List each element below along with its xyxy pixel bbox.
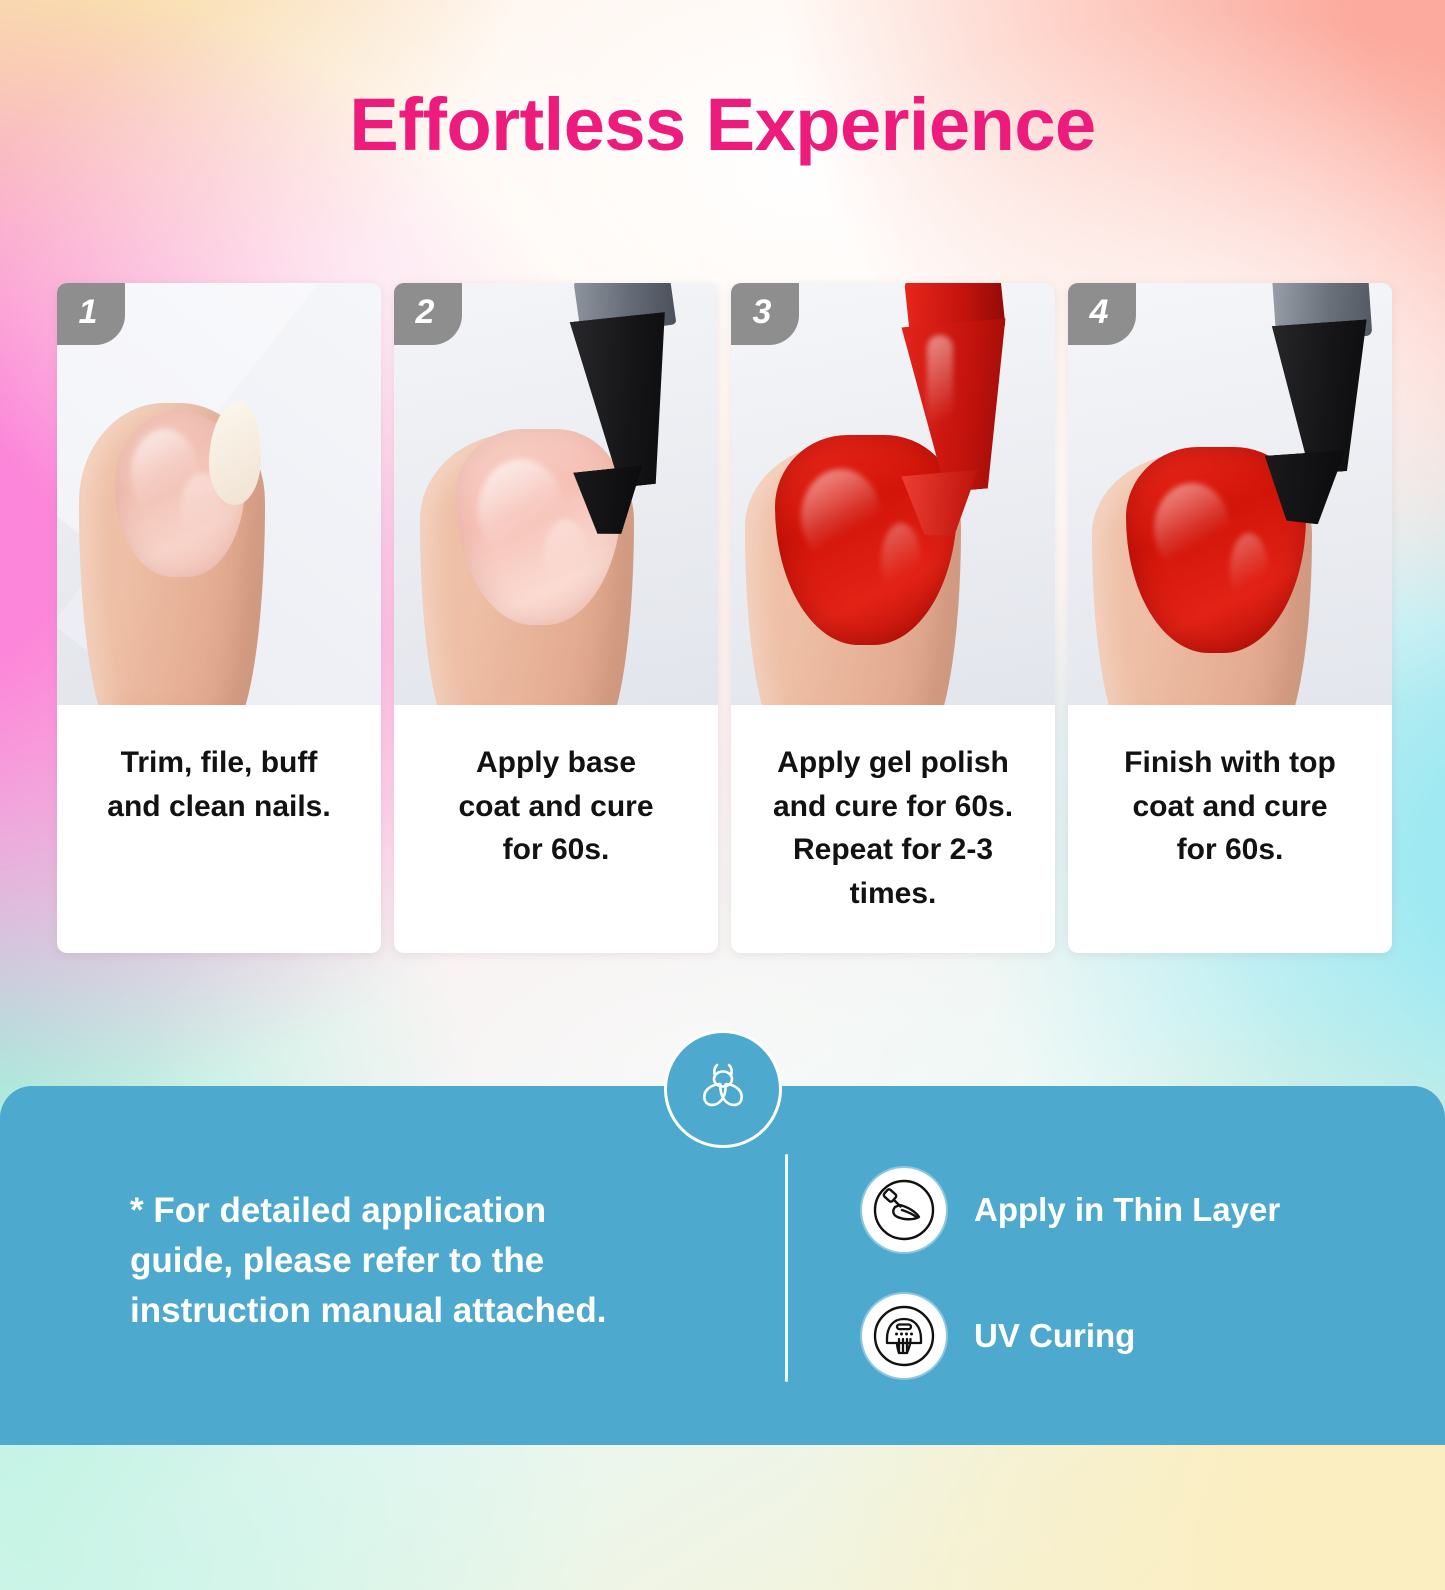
- step-caption-1: Trim, file, buff and clean nails.: [57, 705, 381, 953]
- step-card-1[interactable]: 1 Trim, file, buff and clean nails.: [57, 283, 381, 953]
- step-caption-2: Apply base coat and cure for 60s.: [394, 705, 718, 953]
- page-title: Effortless Experience: [0, 82, 1445, 167]
- nail-photo-bare: [57, 283, 381, 705]
- step-photo-1: 1: [57, 283, 381, 705]
- brand-logo-badge: [664, 1030, 782, 1148]
- manual-note: * For detailed application guide, please…: [130, 1186, 740, 1336]
- nail-brush-icon: [862, 1168, 946, 1252]
- step-caption-3: Apply gel polish and cure for 60s. Repea…: [731, 705, 1055, 953]
- feature-label-thin-layer: Apply in Thin Layer: [974, 1191, 1280, 1229]
- nail-photo-top-coat: [1068, 283, 1392, 705]
- step-number-badge-4: 4: [1068, 283, 1136, 345]
- step-photo-3: 3: [731, 283, 1055, 705]
- step-number-badge-3: 3: [731, 283, 799, 345]
- bee-logo-icon: [692, 1058, 754, 1120]
- page-root: Effortless Experience 1 Trim,: [0, 0, 1445, 1445]
- step-photo-2: 2: [394, 283, 718, 705]
- step-number-badge-2: 2: [394, 283, 462, 345]
- nail-photo-gel-polish: [731, 283, 1055, 705]
- steps-grid: 1 Trim, file, buff and clean nails.: [57, 283, 1392, 953]
- feature-list: Apply in Thin Layer: [862, 1168, 1280, 1378]
- step-card-4[interactable]: 4 Finish with top coat and cure for 60s.: [1068, 283, 1392, 953]
- feature-label-uv-curing: UV Curing: [974, 1317, 1135, 1355]
- panel-divider: [785, 1154, 788, 1382]
- step-caption-4: Finish with top coat and cure for 60s.: [1068, 705, 1392, 953]
- step-card-2[interactable]: 2 Apply base coat and cure for 60s.: [394, 283, 718, 953]
- step-card-3[interactable]: 3 Apply gel polish and cure for 60s. Rep…: [731, 283, 1055, 953]
- nail-photo-base-coat: [394, 283, 718, 705]
- feature-item-uv-curing: UV Curing: [862, 1294, 1280, 1378]
- uv-lamp-hand-icon: [862, 1294, 946, 1378]
- step-number-badge-1: 1: [57, 283, 125, 345]
- feature-item-thin-layer: Apply in Thin Layer: [862, 1168, 1280, 1252]
- step-photo-4: 4: [1068, 283, 1392, 705]
